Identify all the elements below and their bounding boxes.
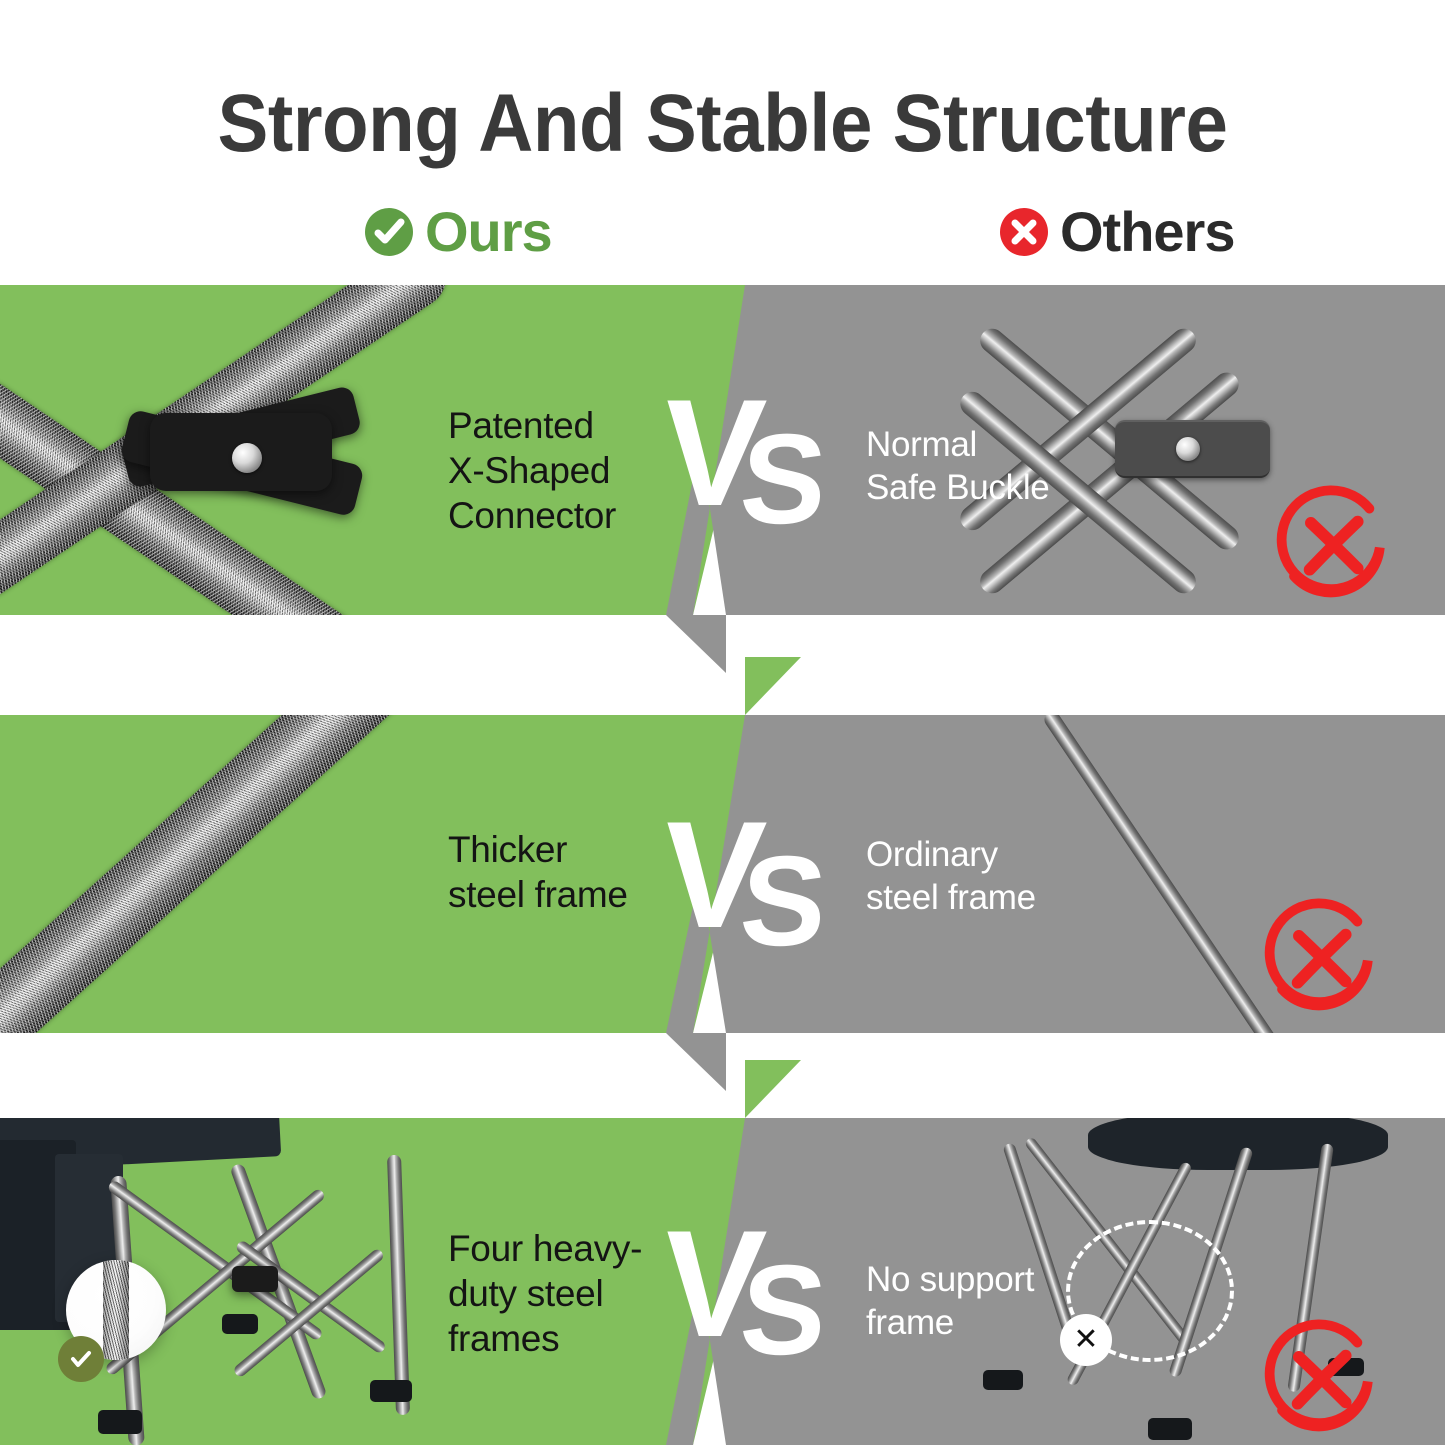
caption-line: frame (866, 1301, 1034, 1344)
caption-line: X-Shaped (448, 448, 616, 493)
caption-line: Thicker (448, 827, 628, 872)
check-badge-icon (58, 1336, 104, 1382)
header-ours-label: Ours (425, 203, 552, 261)
magnified-tube (103, 1260, 129, 1360)
caption-line: Normal (866, 423, 1049, 466)
header-others: Others (1000, 203, 1235, 261)
brace-hub (232, 1266, 278, 1292)
comparison-row-support-frames: ✕ Four heavy- duty steel frames No suppo… (0, 1118, 1445, 1445)
caption-line: Ordinary (866, 833, 1036, 876)
caption-line: Safe Buckle (866, 466, 1049, 509)
caption-ours-2: Thicker steel frame (448, 827, 628, 917)
header-ours: Ours (365, 203, 552, 261)
red-circle-x-stamp (1268, 480, 1398, 610)
caption-ours-1: Patented X-Shaped Connector (448, 403, 616, 538)
x-badge-icon: ✕ (1060, 1314, 1112, 1366)
others-panel-2 (628, 715, 1445, 1033)
caption-line: Four heavy- (448, 1226, 642, 1271)
caption-line: steel frame (448, 872, 628, 917)
caption-line: steel frame (866, 876, 1036, 919)
caption-line: Connector (448, 493, 616, 538)
chair-foot-left (98, 1410, 142, 1434)
red-circle-x-stamp (1256, 1314, 1386, 1444)
caption-others-1: Normal Safe Buckle (866, 423, 1049, 509)
chair-foot-mid (222, 1314, 258, 1334)
red-circle-x-stamp (1256, 893, 1386, 1023)
thick-steel-tube (0, 715, 425, 1033)
x-circle-icon (1000, 208, 1048, 256)
header-others-label: Others (1060, 203, 1235, 261)
chair-foot-right (370, 1380, 412, 1402)
chair-leg-rear (387, 1155, 410, 1415)
buckle-rivet (1176, 437, 1200, 461)
caption-others-2: Ordinary steel frame (866, 833, 1036, 919)
caption-line: Patented (448, 403, 616, 448)
comparison-row-steel-frame: Thicker steel frame Ordinary steel frame… (0, 715, 1445, 1033)
infographic-page: Strong And Stable Structure Ours Others (0, 0, 1445, 1445)
connector-rivet (232, 443, 262, 473)
check-circle-icon (365, 208, 413, 256)
page-title: Strong And Stable Structure (51, 78, 1395, 170)
caption-line: No support (866, 1258, 1034, 1301)
caption-ours-3: Four heavy- duty steel frames (448, 1226, 642, 1361)
others-panel-3: ✕ (628, 1118, 1445, 1445)
chair-foot-center (1148, 1418, 1192, 1440)
chair-foot-left (983, 1370, 1023, 1390)
caption-line: duty steel (448, 1271, 642, 1316)
comparison-row-x-connector: Patented X-Shaped Connector Normal Safe … (0, 285, 1445, 615)
caption-others-3: No support frame (866, 1258, 1034, 1344)
caption-line: frames (448, 1316, 642, 1361)
